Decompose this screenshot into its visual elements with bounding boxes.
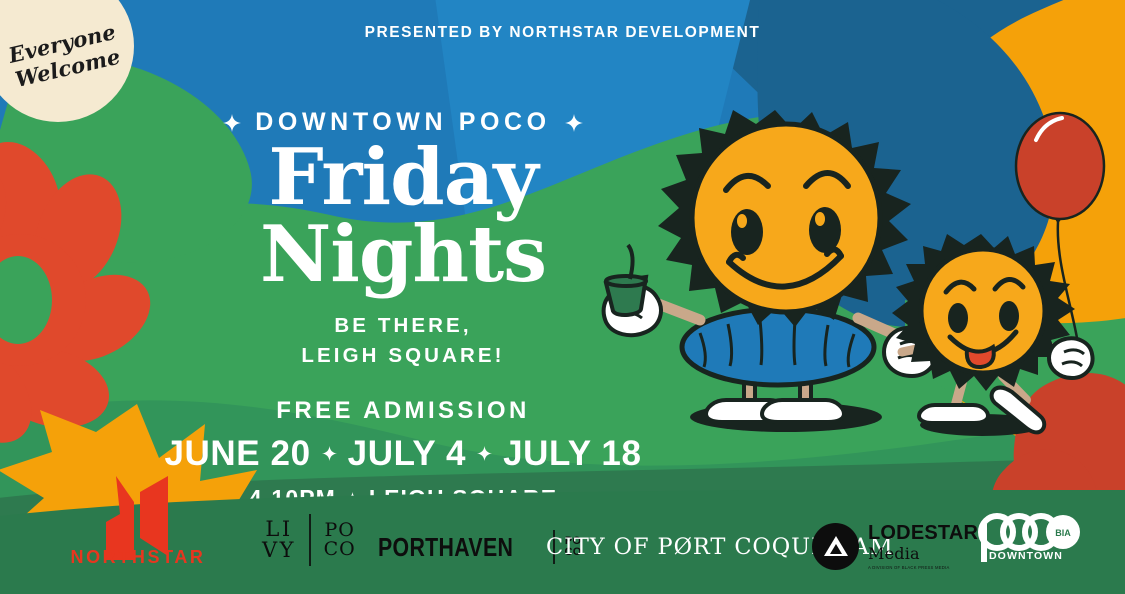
- livy-line-1: LI: [262, 519, 296, 540]
- lodestar-wordmark-row: LODESTAR ™: [868, 523, 988, 543]
- event-poster: Everyone Welcome PRESENTED BY NORTHSTAR …: [0, 0, 1125, 594]
- sparkle-icon-right: [565, 114, 583, 132]
- lodestar-triangle-icon: [812, 523, 859, 570]
- livy-poco-line-2: CO: [324, 540, 356, 559]
- livy-poco-mark: PO CO: [324, 521, 356, 560]
- lodestar-wordmark-block: LODESTAR ™ Media A DIVISION OF BLACK PRE…: [868, 523, 988, 570]
- porthaven-wordmark: PORTHAVEN: [378, 532, 513, 563]
- date-3: JULY 18: [503, 434, 641, 474]
- poco-bia-mark: BIA: [975, 510, 1083, 572]
- lodestar-wordmark: LODESTAR: [868, 523, 978, 543]
- livy-wordmark: LI VY: [262, 519, 296, 562]
- sponsor-logo-lodestar-media[interactable]: LODESTAR ™ Media A DIVISION OF BLACK PRE…: [812, 523, 988, 570]
- balloon-glove: [1049, 338, 1093, 378]
- presented-by-text: PRESENTED BY NORTHSTAR DEVELOPMENT: [0, 24, 1125, 42]
- sponsor-logo-livy-poco[interactable]: LI VY PO CO: [262, 514, 356, 566]
- sponsor-logos-row: NORTHSTAR LI VY PO CO PORTHAVEN PO CO CI…: [0, 490, 1125, 594]
- sponsor-logo-poco-downtown-bia[interactable]: BIA DOWNTOWN: [975, 510, 1083, 572]
- sparkle-icon-date-sep-1: [322, 446, 337, 461]
- subline-line-2: LEIGH SQUARE!: [118, 341, 688, 371]
- northstar-wordmark: NORTHSTAR: [28, 547, 248, 568]
- subline-block: BE THERE, LEIGH SQUARE!: [118, 311, 688, 370]
- lodestar-subtitle: Media: [868, 546, 988, 562]
- small-sun-mascot: [892, 234, 1093, 436]
- sponsor-logo-northstar[interactable]: NORTHSTAR: [28, 452, 248, 594]
- date-2: JULY 4: [348, 434, 466, 474]
- livy-line-2: VY: [262, 540, 296, 561]
- svg-text:BIA: BIA: [1055, 528, 1071, 538]
- free-admission-label: FREE ADMISSION: [118, 397, 688, 425]
- northstar-n-mark: [28, 452, 248, 594]
- lodestar-fine-print: A DIVISION OF BLACK PRESS MEDIA: [868, 566, 988, 570]
- sparkle-icon-date-sep-2: [477, 446, 492, 461]
- livy-divider: [309, 514, 311, 566]
- event-title: Friday Nights: [118, 139, 688, 293]
- sparkle-icon-left: [223, 114, 241, 132]
- poco-bia-label: DOWNTOWN: [989, 550, 1063, 562]
- subline-line-1: BE THERE,: [118, 311, 688, 341]
